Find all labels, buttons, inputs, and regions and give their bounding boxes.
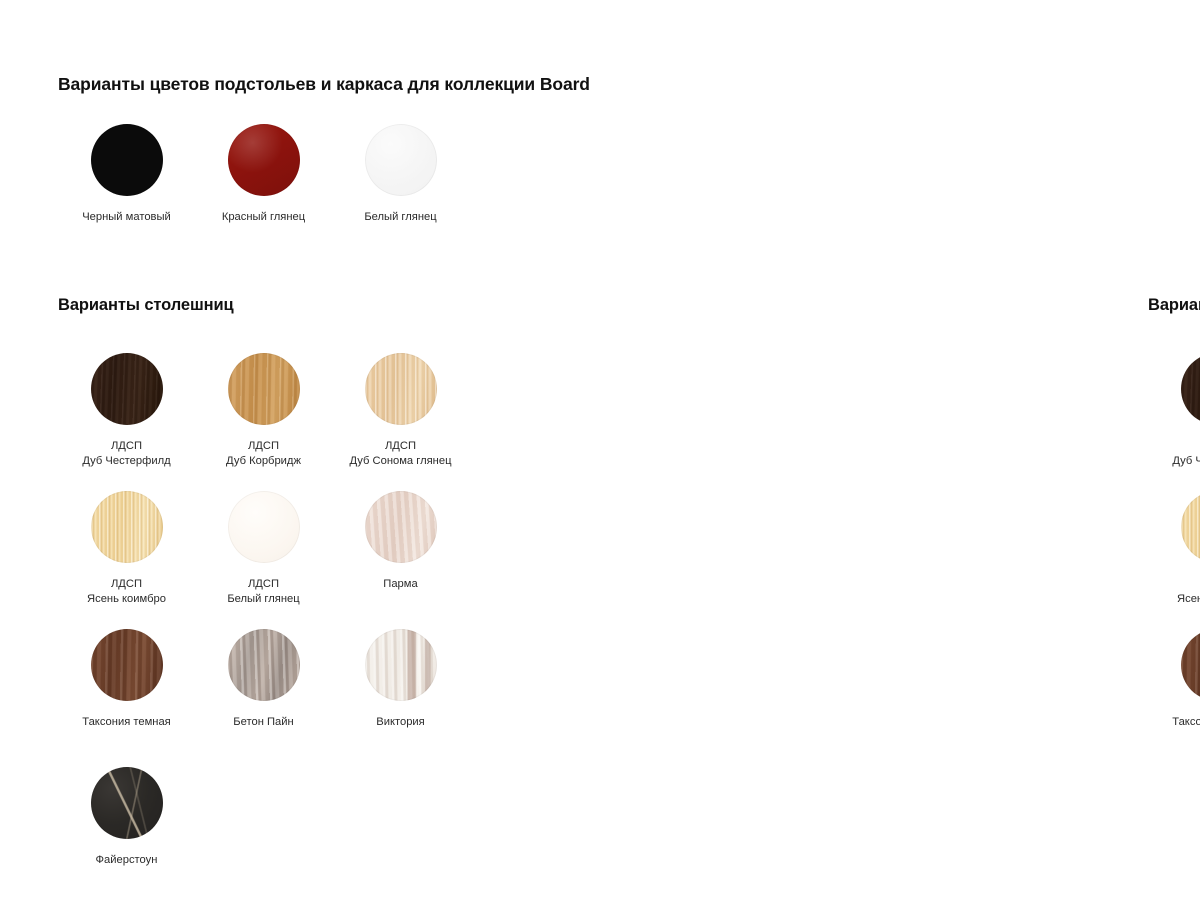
swatch-white-gloss[interactable]: [365, 124, 437, 196]
tabletops-column: Варианты столешниц ЛДСПДуб ЧестерфилдЛДС…: [58, 296, 572, 900]
swatch-caption: Файерстоун: [96, 853, 158, 868]
swatch-caption-line2: Дуб Корбридж: [226, 454, 301, 469]
swatch-caption-line1: ЛДСП: [349, 439, 451, 454]
swatch-caption: ЛДСПДуб Сонома глянец: [349, 439, 451, 469]
swatch-oak-sonoma-gloss[interactable]: [365, 353, 437, 425]
swatch-caption: Таксония темная: [82, 715, 170, 730]
swatch-caption-line1: ЛДСП: [226, 439, 301, 454]
swatch-white-gloss-ldsp[interactable]: [228, 491, 300, 563]
swatch-columns: Варианты столешниц ЛДСПДуб ЧестерфилдЛДС…: [58, 296, 1148, 900]
swatch-caption-line2: Ясень коимбро: [87, 592, 166, 607]
swatch-caption: Белый глянец: [364, 210, 436, 225]
swatch-black-matte[interactable]: [91, 124, 163, 196]
swatch-caption: Бетон Пайн: [233, 715, 293, 730]
swatch-item[interactable]: ЛДСПДуб Честерфилд: [1148, 353, 1200, 491]
swatch-caption-line1: ЛДСП: [1172, 439, 1200, 454]
swatch-oak-chesterfield[interactable]: [91, 353, 163, 425]
swatch-caption-line2: Парма: [383, 577, 417, 592]
swatch-caption-line2: Дуб Честерфилд: [82, 454, 170, 469]
swatch-caption-line1: ЛДСП: [227, 577, 299, 592]
swatch-caption-line2: Таксония темная: [1172, 715, 1200, 730]
swatch-item[interactable]: Белый глянец: [332, 124, 469, 225]
swatch-item[interactable]: Парма: [332, 491, 469, 629]
tabletops-swatch-grid: ЛДСПДуб ЧестерфилдЛДСПДуб КорбриджЛДСПДу…: [58, 353, 572, 900]
swatch-beton-pine[interactable]: [228, 629, 300, 701]
swatch-item[interactable]: ЛДСПДуб Сонома глянец: [332, 353, 469, 491]
shelves-column: Варианты полок ЛДСПДуб ЧестерфилдЛДСПДуб…: [572, 296, 1148, 900]
swatch-caption-line1: ЛДСП: [87, 577, 166, 592]
swatch-ash-coimbra[interactable]: [1181, 491, 1200, 563]
frame-color-cell: Белый глянец: [332, 124, 469, 225]
swatch-caption: ЛДСПБелый глянец: [227, 577, 299, 607]
swatch-item[interactable]: Таксония темная: [58, 629, 195, 767]
swatch-firestone[interactable]: [91, 767, 163, 839]
swatch-item[interactable]: Бетон Пайн: [195, 629, 332, 767]
swatch-caption-line2: Черный матовый: [82, 210, 171, 225]
swatch-caption-line2: Красный глянец: [222, 210, 305, 225]
swatch-caption: ЛДСПДуб Корбридж: [226, 439, 301, 469]
swatch-victoria[interactable]: [365, 629, 437, 701]
swatch-taksonia-dark[interactable]: [1181, 629, 1200, 701]
swatch-item[interactable]: Виктория: [332, 629, 469, 767]
swatch-caption-line2: Дуб Сонома глянец: [349, 454, 451, 469]
swatch-caption: ЛДСПЯсень коимбро: [87, 577, 166, 607]
frame-color-cell: Черный матовый: [58, 124, 195, 225]
swatch-red-gloss[interactable]: [228, 124, 300, 196]
swatch-caption-line2: Виктория: [376, 715, 424, 730]
swatch-caption-line2: Файерстоун: [96, 853, 158, 868]
swatch-item[interactable]: ЛДСПБелый глянец: [195, 491, 332, 629]
swatch-taksonia-dark[interactable]: [91, 629, 163, 701]
swatch-caption: Парма: [383, 577, 417, 592]
swatch-caption: ЛДСПДуб Честерфилд: [1172, 439, 1200, 469]
swatch-caption: ЛДСПЯсень коимбро: [1177, 577, 1200, 607]
swatch-caption-line2: Ясень коимбро: [1177, 592, 1200, 607]
swatch-oak-chesterfield[interactable]: [1181, 353, 1200, 425]
swatch-item[interactable]: ЛДСПДуб Честерфилд: [58, 353, 195, 491]
swatch-oak-corbridge[interactable]: [228, 353, 300, 425]
swatch-caption: Черный матовый: [82, 210, 171, 225]
swatch-ash-coimbra[interactable]: [91, 491, 163, 563]
swatch-item[interactable]: Таксония темная: [1148, 629, 1200, 767]
swatch-item[interactable]: ЛДСПЯсень коимбро: [1148, 491, 1200, 629]
swatch-caption-line2: Бетон Пайн: [233, 715, 293, 730]
swatch-caption: Виктория: [376, 715, 424, 730]
swatch-caption: Таксония темная: [1172, 715, 1200, 730]
swatch-caption-line2: Белый глянец: [227, 592, 299, 607]
swatch-caption-line2: Таксония темная: [82, 715, 170, 730]
swatch-caption-line2: Белый глянец: [364, 210, 436, 225]
swatch-item[interactable]: ЛДСПЯсень коимбро: [58, 491, 195, 629]
swatch-item[interactable]: ЛДСПДуб Корбридж: [195, 353, 332, 491]
swatch-caption-line1: ЛДСП: [82, 439, 170, 454]
page-title: Варианты цветов подстольев и каркаса для…: [58, 74, 590, 95]
swatch-item[interactable]: Красный глянец: [195, 124, 332, 225]
swatch-caption: ЛДСПДуб Честерфилд: [82, 439, 170, 469]
frame-color-cell: Красный глянец: [195, 124, 332, 225]
swatch-item[interactable]: Файерстоун: [58, 767, 195, 900]
swatch-item[interactable]: Черный матовый: [58, 124, 195, 225]
swatch-caption-line1: ЛДСП: [1177, 577, 1200, 592]
frame-color-swatch-strip: Черный матовыйКрасный глянецБелый глянец: [58, 124, 469, 225]
tabletops-section-title: Варианты столешниц: [58, 296, 572, 315]
swatch-parma[interactable]: [365, 491, 437, 563]
color-options-page: Варианты цветов подстольев и каркаса для…: [0, 0, 1200, 900]
swatch-caption: Красный глянец: [222, 210, 305, 225]
swatch-caption-line2: Дуб Честерфилд: [1172, 454, 1200, 469]
